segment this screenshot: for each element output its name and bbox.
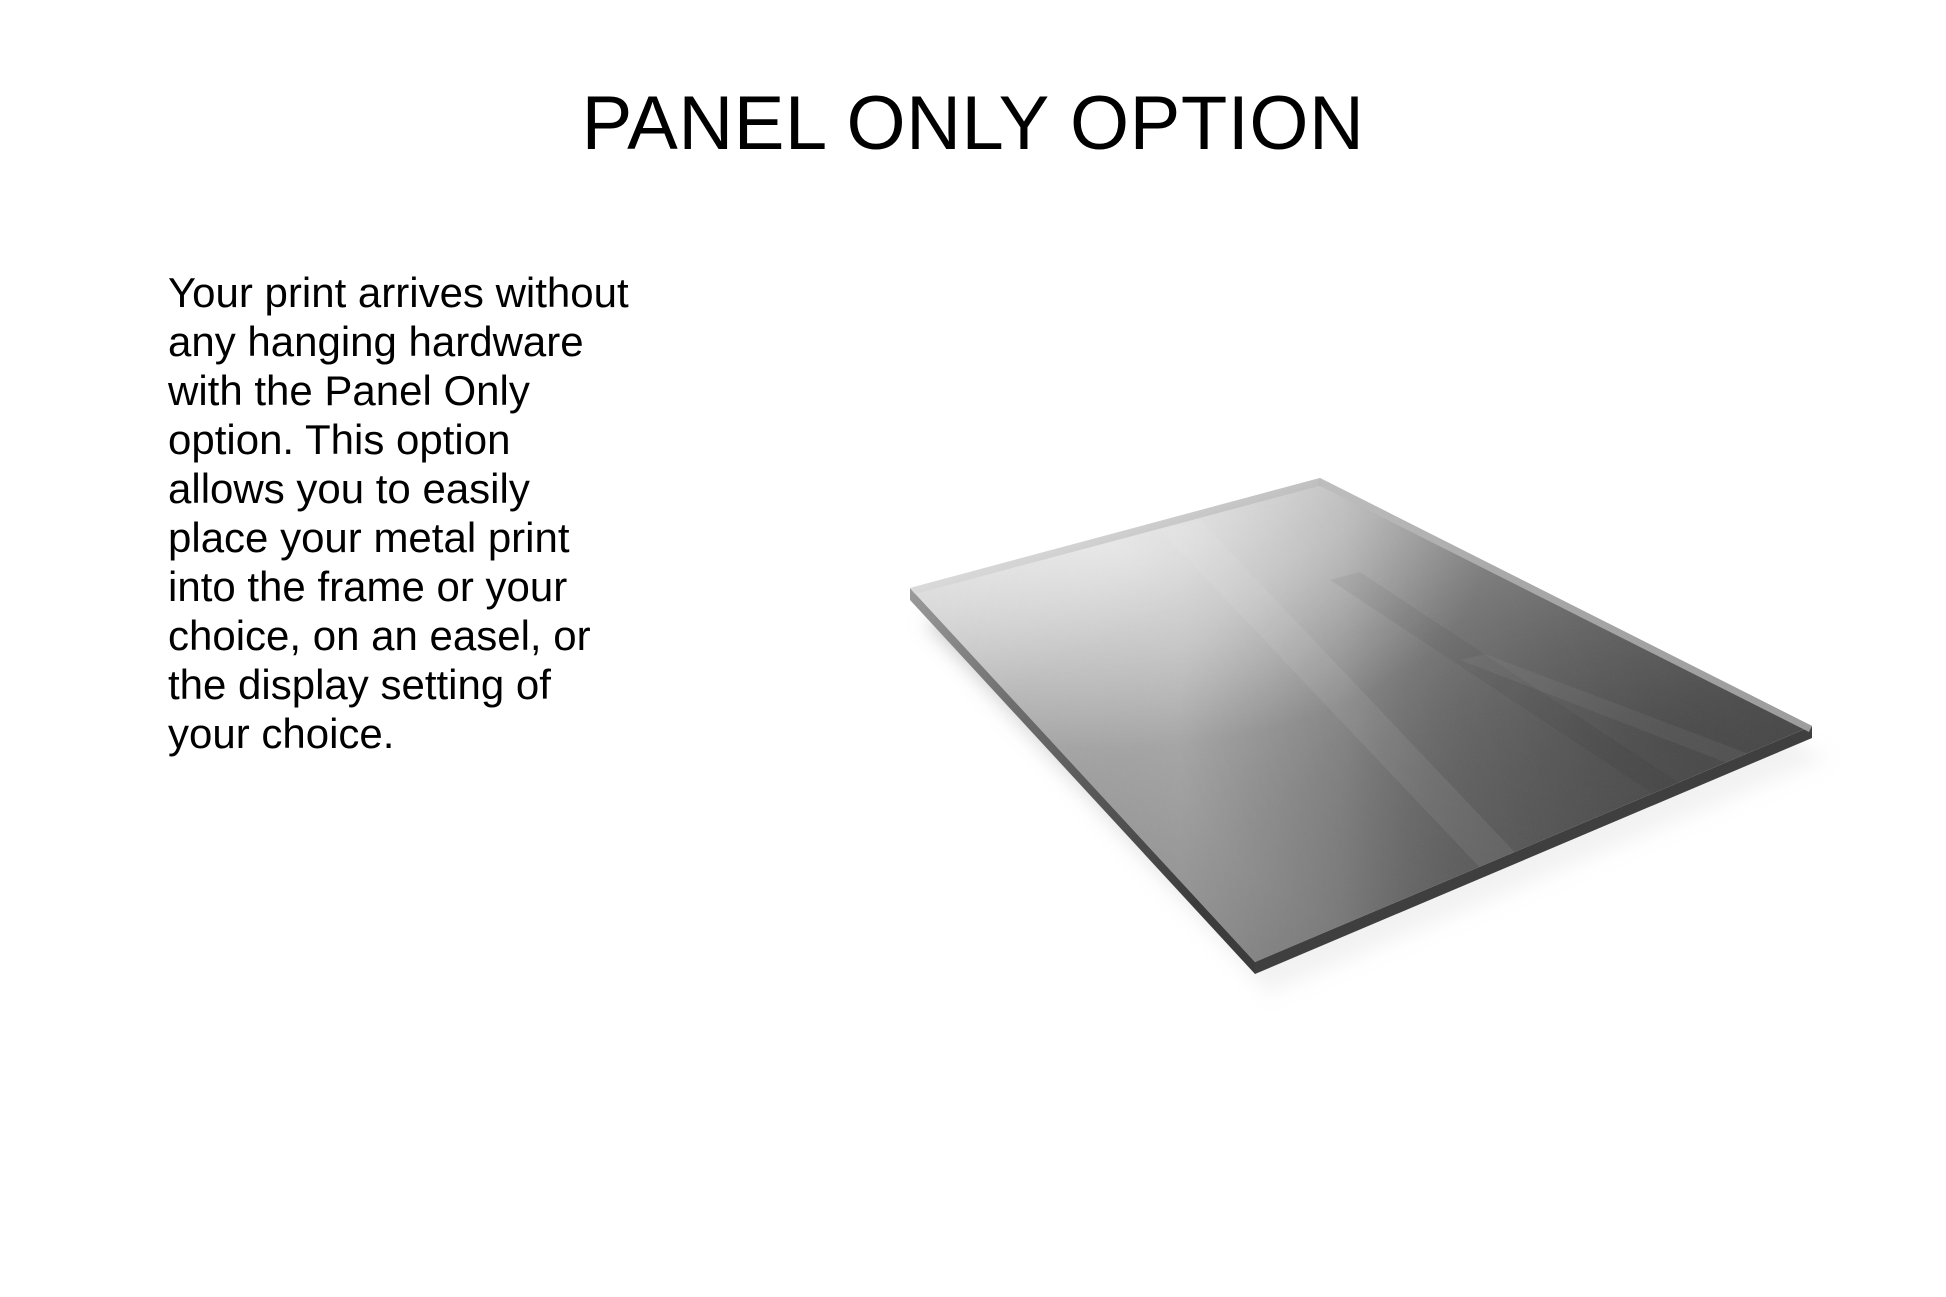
body-line: allows you to easily [168, 464, 638, 513]
slide-title: PANEL ONLY OPTION [0, 84, 1946, 164]
metal-panel-photo [860, 430, 1870, 1030]
body-text-block: Your print arrives without any hanging h… [168, 268, 638, 758]
body-line: your choice. [168, 709, 638, 758]
body-line: with the Panel Only [168, 366, 638, 415]
body-line: option. This option [168, 415, 638, 464]
body-line: any hanging hardware [168, 317, 638, 366]
body-line: choice, on an easel, or [168, 611, 638, 660]
body-line: Your print arrives without [168, 268, 638, 317]
slide-canvas: PANEL ONLY OPTION Your print arrives wit… [0, 0, 1946, 1297]
body-line: into the frame or your [168, 562, 638, 611]
body-line: the display setting of [168, 660, 638, 709]
body-line: place your metal print [168, 513, 638, 562]
